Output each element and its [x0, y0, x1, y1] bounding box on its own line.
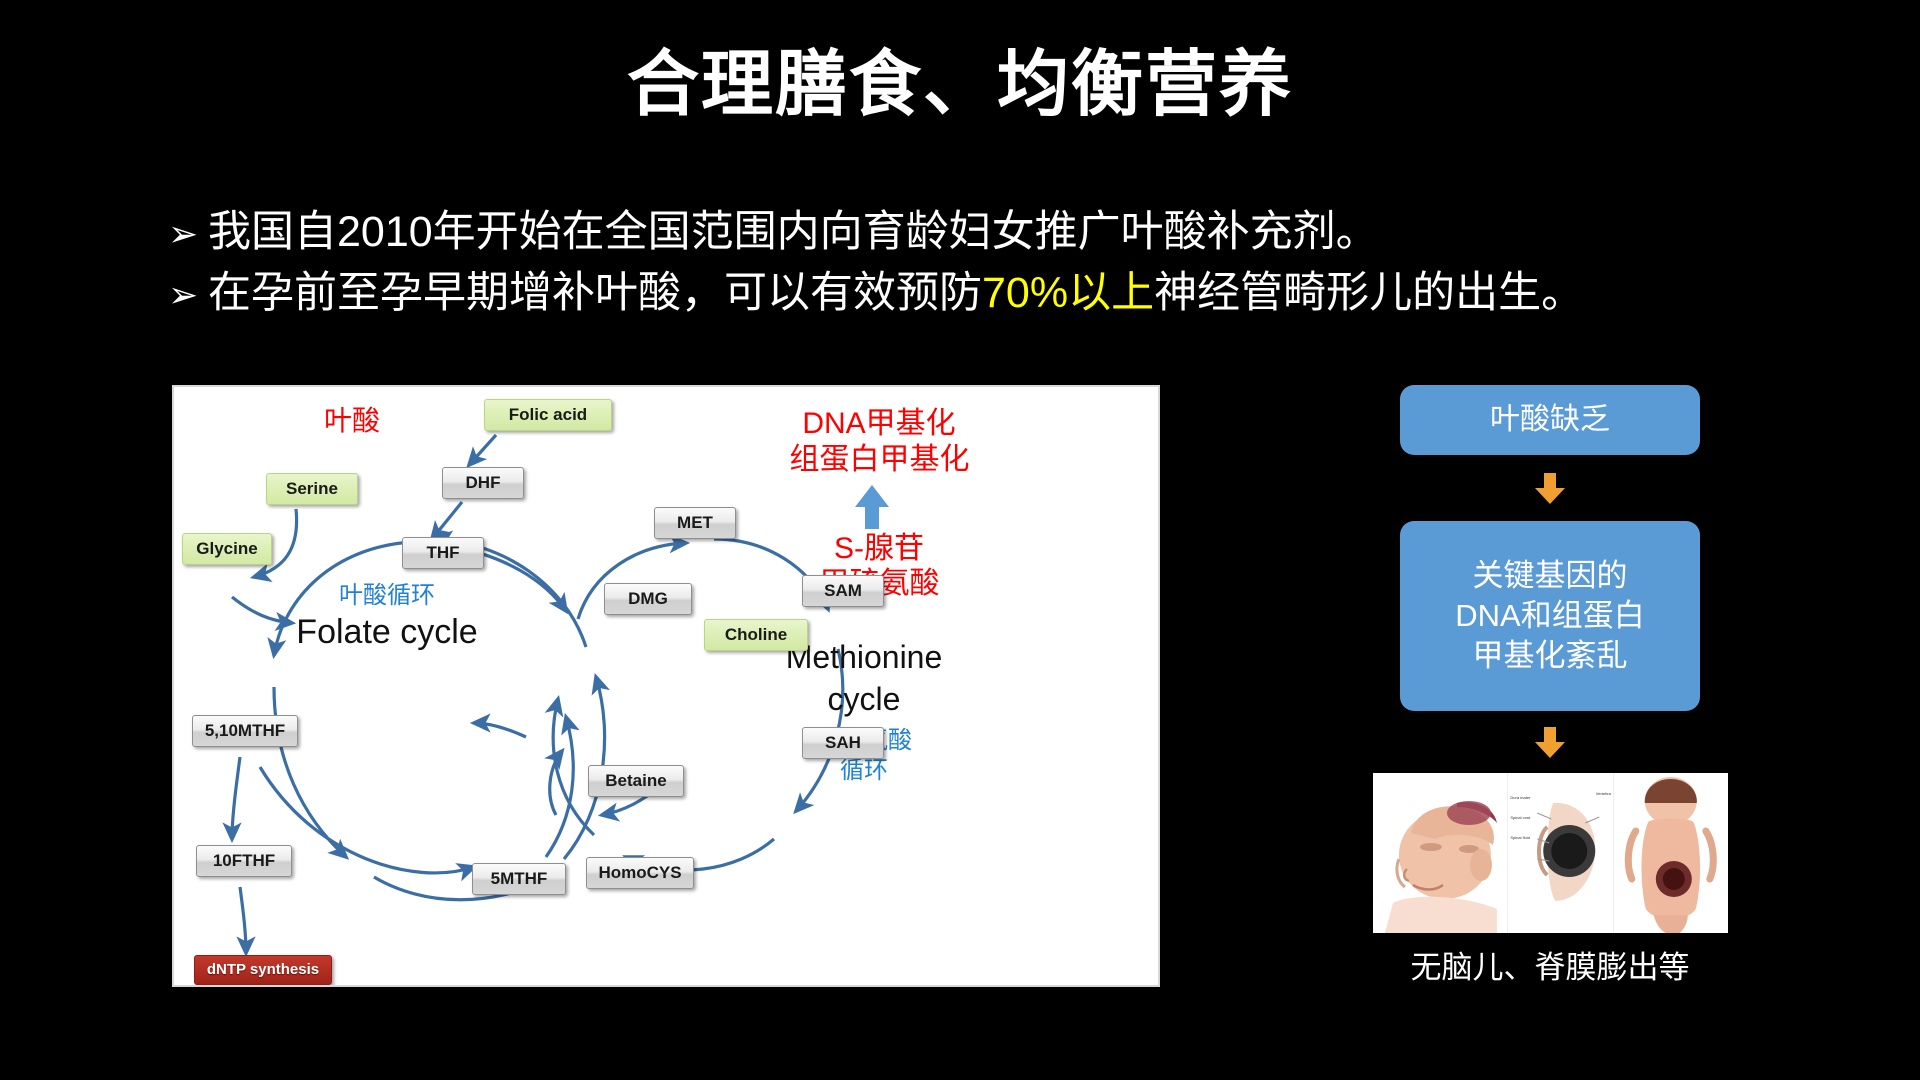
bullet-arrow-icon: ➢	[168, 217, 208, 253]
birth-defect-photo: Dura mater Spinal cord Spinal fluid Vert…	[1373, 773, 1728, 933]
node-folic-acid: Folic acid	[484, 399, 612, 431]
slide-root: 合理膳食、均衡营养 ➢ 我国自2010年开始在全国范围内向育龄妇女推广叶酸补充剂…	[0, 0, 1920, 1080]
node-serine: Serine	[266, 473, 358, 505]
photo-spina-bifida-diagram: Dura mater Spinal cord Spinal fluid Vert…	[1507, 773, 1614, 933]
node-thf: THF	[402, 537, 484, 569]
down-arrow-icon	[1533, 727, 1567, 759]
photo-meningocele	[1614, 773, 1728, 933]
label-folic-acid-cn: 叶酸	[324, 405, 380, 437]
label-dna-methylation-2: 组蛋白甲基化	[752, 443, 1007, 478]
node-10-fthf: 10FTHF	[196, 845, 292, 877]
photo-label-dura-mater: Dura mater	[1510, 795, 1530, 800]
node-choline: Choline	[704, 619, 808, 651]
flow-box-2-line3: 甲基化紊乱	[1472, 638, 1627, 673]
bullet-2-highlight: 70%以上	[982, 269, 1154, 317]
bullet-text-1: 我国自2010年开始在全国范围内向育龄妇女推广叶酸补充剂。	[208, 208, 1379, 257]
photo-label-spinal-cord: Spinal cord	[1510, 815, 1530, 820]
photo-label-spinal-fluid: Spinal fluid	[1510, 835, 1530, 840]
node-met: MET	[654, 507, 736, 539]
label-methionine-cycle-cn-2: 循环	[774, 757, 954, 785]
node-dhf: DHF	[442, 467, 524, 499]
page-title: 合理膳食、均衡营养	[0, 46, 1920, 125]
flow-arrow-2	[1340, 727, 1760, 759]
consequence-flow: 叶酸缺乏 关键基因的 DNA和组蛋白 甲基化紊乱	[1340, 385, 1760, 986]
infant-back-illustration-icon	[1614, 773, 1728, 933]
bullet-2-pre: 在孕前至孕早期增补叶酸，可以有效预防	[208, 269, 982, 317]
label-folate-cycle-en: Folate cycle	[257, 613, 517, 652]
down-arrow-icon	[1533, 473, 1567, 505]
label-sam-cn-1: S-腺苷	[784, 532, 974, 567]
flow-box-methylation-disorder: 关键基因的 DNA和组蛋白 甲基化紊乱	[1400, 521, 1700, 711]
node-dmg: DMG	[604, 583, 692, 615]
bullet-list: ➢ 我国自2010年开始在全国范围内向育龄妇女推广叶酸补充剂。 ➢ 在孕前至孕早…	[168, 208, 1828, 331]
node-5-mthf: 5MTHF	[472, 863, 566, 895]
node-glycine: Glycine	[182, 533, 272, 565]
folate-methionine-diagram: 叶酸 叶酸循环 Folate cycle Methionine cycle 甲硫…	[172, 385, 1160, 987]
photo-caption: 无脑儿、脊膜膨出等	[1340, 949, 1760, 986]
photo-anencephaly	[1373, 773, 1508, 933]
node-dntp-synthesis: dNTP synthesis	[194, 955, 332, 985]
node-sam: SAM	[802, 575, 884, 607]
anencephaly-illustration-icon	[1373, 773, 1508, 933]
flow-box-2-line1: 关键基因的	[1472, 558, 1627, 593]
label-dna-methylation-1: DNA甲基化	[764, 407, 994, 442]
photo-label-vertebra: Vertebra	[1596, 791, 1611, 796]
bullet-item-1: ➢ 我国自2010年开始在全国范围内向育龄妇女推广叶酸补充剂。	[168, 208, 1828, 257]
flow-box-folate-deficiency: 叶酸缺乏	[1400, 385, 1700, 455]
node-5-10-mthf: 5,10MTHF	[192, 715, 298, 747]
node-betaine: Betaine	[588, 765, 684, 797]
flow-box-2-line2: DNA和组蛋白	[1455, 598, 1644, 633]
bullet-2-post: 神经管畸形儿的出生。	[1154, 269, 1584, 317]
node-sah: SAH	[802, 727, 884, 759]
label-folate-cycle-cn: 叶酸循环	[317, 582, 457, 610]
bullet-arrow-icon: ➢	[168, 278, 208, 314]
blue-up-arrow-icon	[852, 483, 892, 531]
bullet-item-2: ➢ 在孕前至孕早期增补叶酸，可以有效预防70%以上神经管畸形儿的出生。	[168, 269, 1828, 318]
node-homocys: HomoCYS	[586, 857, 694, 889]
label-methionine-cycle-en-2: cycle	[749, 681, 979, 718]
flow-box-2-text: 关键基因的 DNA和组蛋白 甲基化紊乱	[1455, 556, 1644, 675]
bullet-text-2: 在孕前至孕早期增补叶酸，可以有效预防70%以上神经管畸形儿的出生。	[208, 269, 1584, 318]
flow-arrow-1	[1340, 473, 1760, 505]
